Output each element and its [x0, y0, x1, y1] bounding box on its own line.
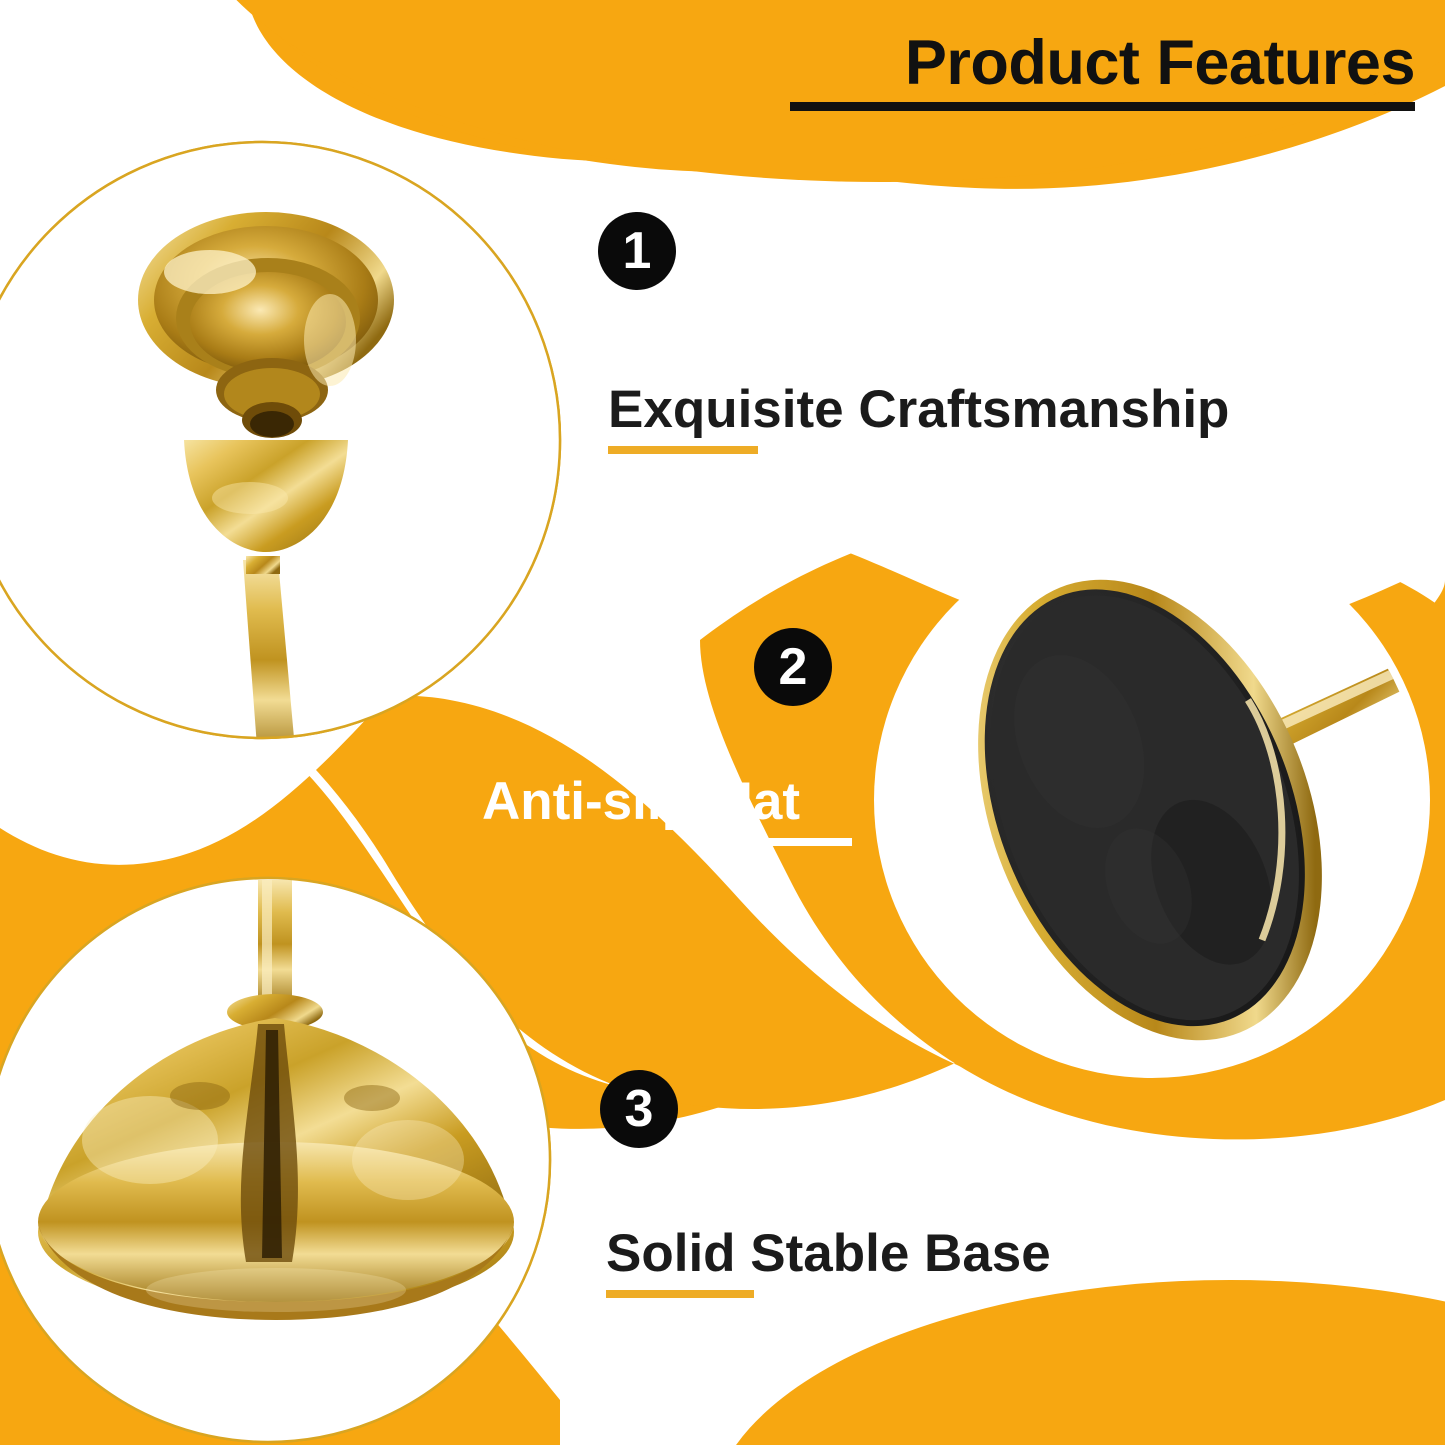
feature-label-2: Anti-slip Mat — [482, 774, 852, 830]
feature-item-3: 3 Solid Stable Base — [598, 1070, 1051, 1298]
orange-swoosh-middle — [0, 612, 790, 1129]
frame-ring-3-top — [0, 878, 550, 1442]
feature-item-2: 2 Anti-slip Mat — [750, 628, 852, 846]
feature-underline-2 — [700, 838, 852, 846]
orange-region-lower-left — [0, 660, 560, 1445]
feature-label-wrap-3: Solid Stable Base — [606, 1226, 1051, 1298]
orange-swoosh-body — [0, 604, 470, 1445]
feature-label-wrap-1: Exquisite Craftsmanship — [608, 382, 1229, 454]
orange-wave-main — [0, 580, 1445, 1112]
title-underline — [790, 102, 1415, 111]
product-features-infographic: Product Features 1 Exquisite Craftsmansh… — [0, 0, 1445, 1445]
frame-ring-3 — [0, 878, 550, 1442]
photo-candle-cup — [0, 142, 600, 760]
frame-ring-1-top — [0, 142, 560, 738]
feature-label-3: Solid Stable Base — [606, 1226, 1051, 1282]
frame-ring-1 — [0, 142, 560, 738]
feature-underline-3 — [606, 1290, 754, 1298]
feature-label-wrap-2: Anti-slip Mat — [482, 774, 852, 846]
feature-number-badge-1: 1 — [598, 212, 676, 290]
feature-item-1: 1 Exquisite Craftsmanship — [596, 212, 1229, 454]
photo-stable-base — [0, 870, 600, 1445]
feature-label-1: Exquisite Craftsmanship — [608, 382, 1229, 438]
feature-underline-1 — [608, 446, 758, 454]
page-title: Product Features — [790, 30, 1415, 96]
title-block: Product Features — [790, 30, 1415, 111]
white-cutout-circle-2 — [874, 522, 1430, 1078]
orange-bottom-right-blob — [710, 1280, 1445, 1445]
feature-number-badge-3: 3 — [600, 1070, 678, 1148]
photo-antislip-pad — [880, 520, 1445, 1092]
feature-number-badge-2: 2 — [754, 628, 832, 706]
